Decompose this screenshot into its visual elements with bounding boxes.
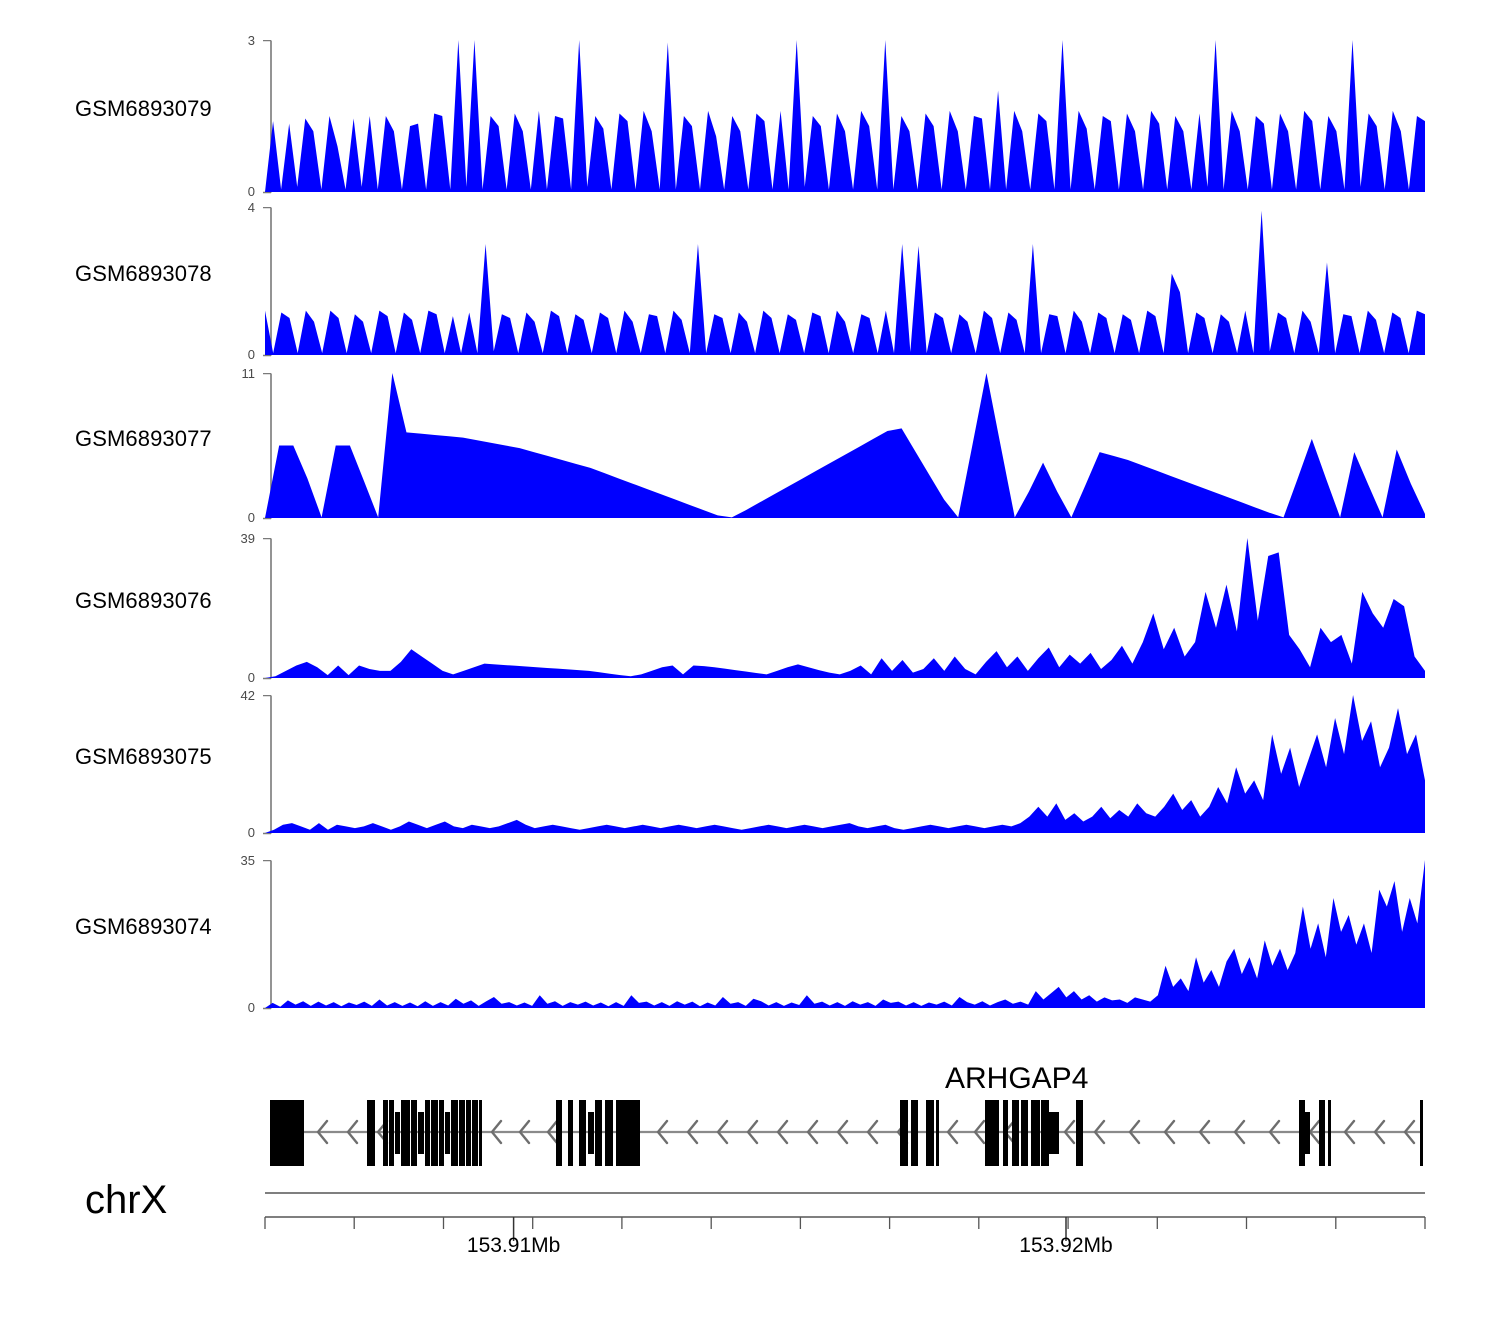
ruler-tick-label: 153.92Mb bbox=[1019, 1234, 1112, 1258]
genomic-coordinate-ruler bbox=[0, 1185, 1500, 1255]
coverage-track-GSM6893079: GSM689307930 bbox=[0, 40, 1500, 192]
coverage-track-GSM6893075: GSM6893075420 bbox=[0, 695, 1500, 833]
coverage-track-GSM6893074: GSM6893074350 bbox=[0, 860, 1500, 1008]
coverage-area-GSM6893076 bbox=[0, 538, 1500, 678]
gene-annotation-track bbox=[0, 1060, 1500, 1190]
coverage-area-GSM6893078 bbox=[0, 207, 1500, 355]
coverage-track-GSM6893076: GSM6893076390 bbox=[0, 538, 1500, 678]
coverage-area-GSM6893079 bbox=[0, 40, 1500, 192]
coverage-area-GSM6893077 bbox=[0, 373, 1500, 518]
ruler-tick-label: 153.91Mb bbox=[467, 1234, 560, 1258]
coverage-track-GSM6893077: GSM6893077110 bbox=[0, 373, 1500, 518]
coverage-area-GSM6893075 bbox=[0, 695, 1500, 833]
genome-browser-figure: GSM689307930GSM689307840GSM6893077110GSM… bbox=[0, 0, 1500, 1320]
coverage-area-GSM6893074 bbox=[0, 860, 1500, 1008]
coverage-track-GSM6893078: GSM689307840 bbox=[0, 207, 1500, 355]
